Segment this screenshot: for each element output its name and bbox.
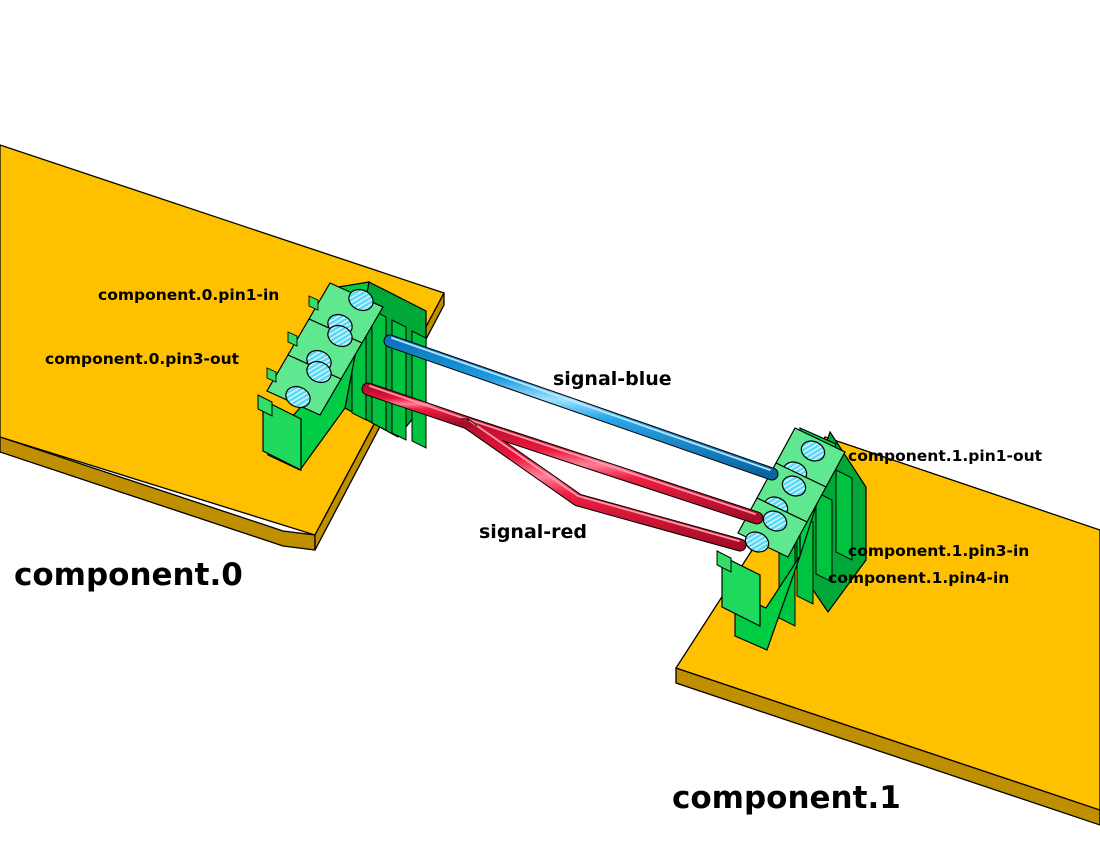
pin-label-c1-pin1-out: component.1.pin1-out [848,447,1043,465]
pin-label-c0-pin1-in: component.0.pin1-in [98,286,279,304]
connector-1-tab [717,551,731,572]
board-label-component-1: component.1 [672,780,901,816]
board-label-component-0: component.0 [14,557,243,593]
pin-label-c1-pin3-in: component.1.pin3-in [848,542,1029,560]
connector-0-rib [372,310,386,430]
wiring-diagram-svg: component.0.pin1-in component.0.pin3-out… [0,0,1100,850]
diagram-canvas: component.0.pin1-in component.0.pin3-out… [0,0,1100,850]
pin-label-c1-pin4-in: component.1.pin4-in [828,569,1009,587]
wire-red-highlight [470,420,755,514]
wire-blue-highlight [392,338,770,470]
pin-label-c0-pin3-out: component.0.pin3-out [45,350,240,368]
signal-label-blue: signal-blue [553,368,672,390]
signal-label-red: signal-red [479,521,587,543]
